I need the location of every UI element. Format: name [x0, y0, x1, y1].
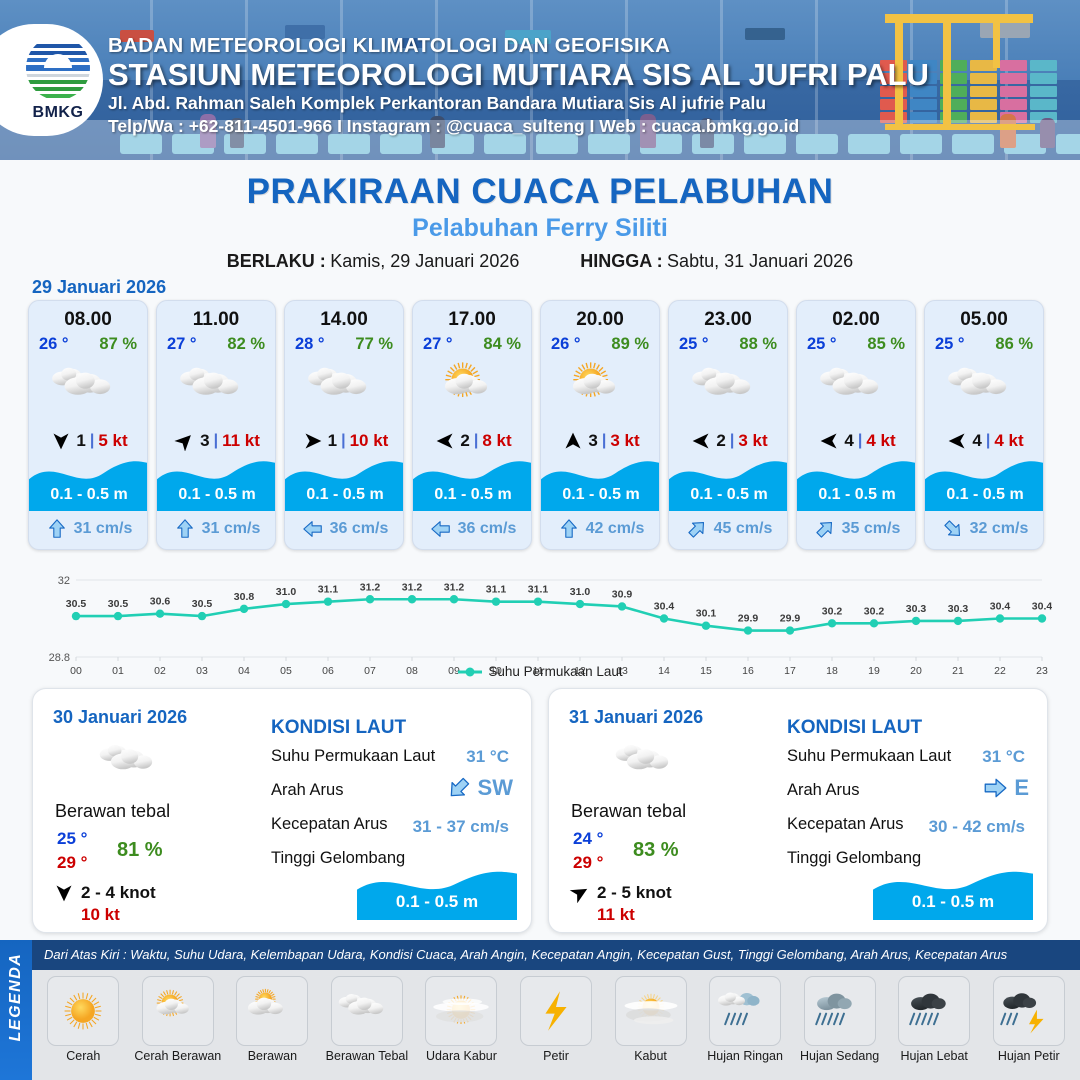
page-subtitle: Pelabuhan Ferry Siliti: [0, 214, 1080, 243]
legend-note-text: Dari Atas Kiri : Waktu, Suhu Udara, Kele…: [44, 947, 1007, 962]
card-wind-separator: |: [602, 432, 606, 450]
chart-point: [786, 626, 794, 634]
card-temperature: 27 °: [167, 335, 197, 354]
card-weather-icon: [29, 359, 148, 421]
legend-side-title: LEGENDA: [7, 945, 25, 1049]
card-wave-height: 0.1 - 0.5 m: [29, 486, 148, 504]
daily-wave-box: 0.1 - 0.5 m: [873, 864, 1033, 920]
daily-wave-height: 0.1 - 0.5 m: [357, 892, 517, 912]
header-contact: Telp/Wa : +62-811-4501-966 I Instagram :…: [108, 116, 799, 137]
chart-point-label: 31.1: [528, 584, 549, 596]
chart-point-label: 31.2: [360, 581, 381, 593]
wind-direction-arrow-icon: [818, 431, 840, 451]
kabut-icon: [618, 982, 684, 1040]
card-wind-speed: 8 kt: [482, 431, 511, 451]
berawan-tebal-icon: [811, 359, 903, 421]
daily-sst-value: 31 °C: [466, 747, 509, 767]
card-wind-speed: 3 kt: [738, 431, 767, 451]
legend-item: Cerah: [38, 976, 129, 1063]
chart-point: [870, 619, 878, 627]
card-humidity: 86 %: [995, 335, 1033, 354]
card-wave-height: 0.1 - 0.5 m: [669, 486, 788, 504]
card-current: 31 cm/s: [29, 513, 148, 545]
card-temperature: 25 °: [935, 335, 965, 354]
card-wind-speed: 3 kt: [610, 431, 639, 451]
legend-item-label: Cerah: [38, 1049, 129, 1063]
legend-item: Petir: [511, 976, 602, 1063]
daily-row-label-sst: Suhu Permukaan Laut: [787, 747, 951, 766]
card-wind-dir-label: 3: [200, 431, 209, 451]
daily-panel-31: 31 Januari 2026Berawan tebal24 °29 °83 %…: [548, 688, 1048, 933]
card-wave-height: 0.1 - 0.5 m: [157, 486, 276, 504]
card-wind-speed: 10 kt: [350, 431, 389, 451]
header-address: Jl. Abd. Rahman Saleh Komplek Perkantora…: [108, 93, 766, 114]
card-current: 32 cm/s: [925, 513, 1044, 545]
card-humidity: 87 %: [99, 335, 137, 354]
card-current: 36 cm/s: [413, 513, 532, 545]
card-current-speed: 36 cm/s: [330, 520, 389, 538]
card-wave-height: 0.1 - 0.5 m: [413, 486, 532, 504]
card-wind-separator: |: [90, 432, 94, 450]
legend-item-label: Petir: [511, 1049, 602, 1063]
berawan-tebal-icon: [601, 737, 697, 793]
current-direction-arrow-icon: [444, 775, 474, 801]
daily-row-label-current-dir: Arah Arus: [787, 781, 859, 800]
card-wind-dir-label: 2: [460, 431, 469, 451]
card-wave-height: 0.1 - 0.5 m: [797, 486, 916, 504]
card-current: 45 cm/s: [669, 513, 788, 545]
card-humidity: 85 %: [867, 335, 905, 354]
cerah-icon: [50, 982, 116, 1040]
chart-point-label: 31.1: [486, 584, 507, 596]
legend-icon-box: [47, 976, 119, 1046]
chart-point: [828, 619, 836, 627]
wind-direction-arrow-icon: [562, 431, 584, 451]
legend-item-label: Udara Kabur: [416, 1049, 507, 1063]
card-wind-speed: 11 kt: [222, 431, 260, 451]
daily-temp-min: 24 °: [573, 829, 603, 849]
card-wind-dir-label: 3: [588, 431, 597, 451]
card-wave: 0.1 - 0.5 m: [925, 453, 1044, 511]
daily-sst-value: 31 °C: [982, 747, 1025, 767]
legend-item: Hujan Ringan: [700, 976, 791, 1063]
chart-point: [366, 595, 374, 603]
daily-weather-icon: [83, 737, 183, 793]
header-agency-name: BADAN METEOROLOGI KLIMATOLOGI DAN GEOFIS…: [108, 34, 670, 58]
card-wave-height: 0.1 - 0.5 m: [541, 486, 660, 504]
legend-item-label: Berawan: [227, 1049, 318, 1063]
berawan-tebal-icon: [171, 359, 263, 421]
cerah-berawan-icon: [427, 359, 519, 421]
card-time: 14.00: [285, 309, 403, 331]
daily-current-arrow: [980, 775, 1010, 801]
card-weather-icon: [157, 359, 276, 421]
legend-item-label: Berawan Tebal: [322, 1049, 413, 1063]
daily-temp-max: 29 °: [57, 853, 87, 873]
chart-point: [702, 622, 710, 630]
card-time: 05.00: [925, 309, 1043, 331]
current-direction-arrow-icon: [814, 518, 836, 540]
legend-item: Hujan Lebat: [889, 976, 980, 1063]
legend-note-bar: Dari Atas Kiri : Waktu, Suhu Udara, Kele…: [32, 940, 1080, 970]
chart-point: [282, 600, 290, 608]
wind-direction-arrow-icon: [53, 883, 75, 903]
legend-icon-box: [898, 976, 970, 1046]
chart-point: [954, 617, 962, 625]
card-humidity: 84 %: [483, 335, 521, 354]
current-direction-arrow-icon: [686, 518, 708, 540]
chart-point-label: 30.2: [864, 605, 885, 617]
chart-point-label: 29.9: [780, 613, 801, 625]
card-wind-dir-label: 4: [972, 431, 981, 451]
cerah-berawan-icon: [555, 359, 647, 421]
current-direction-arrow-icon: [942, 518, 964, 540]
current-direction-arrow-icon: [174, 518, 196, 540]
valid-until-value: Sabtu, 31 Januari 2026: [667, 251, 853, 271]
legend-item-label: Hujan Ringan: [700, 1049, 791, 1063]
chart-point: [534, 597, 542, 605]
card-temperature: 26 °: [39, 335, 69, 354]
card-wind: 3|11 kt: [157, 427, 276, 455]
card-wave-height: 0.1 - 0.5 m: [285, 486, 404, 504]
valid-from-value: Kamis, 29 Januari 2026: [330, 251, 519, 271]
card-time: 20.00: [541, 309, 659, 331]
chart-point-label: 30.4: [1032, 601, 1052, 613]
legend-icon-box: [331, 976, 403, 1046]
wind-direction-arrow-icon: [946, 431, 968, 451]
legend-section: LEGENDA Dari Atas Kiri : Waktu, Suhu Uda…: [0, 940, 1080, 1080]
hourly-card: 17.0027 °84 %2|8 kt0.1 - 0.5 m36 cm/s: [412, 300, 532, 550]
chart-point: [114, 612, 122, 620]
card-current: 31 cm/s: [157, 513, 276, 545]
card-wind: 1|10 kt: [285, 427, 404, 455]
legend-item-label: Hujan Sedang: [794, 1049, 885, 1063]
chart-point: [450, 595, 458, 603]
card-current: 36 cm/s: [285, 513, 404, 545]
chart-legend-label: Suhu Permukaan Laut: [488, 664, 622, 679]
card-current: 42 cm/s: [541, 513, 660, 545]
chart-y-tick-max: 32: [58, 575, 70, 587]
card-wind: 4|4 kt: [925, 427, 1044, 455]
daily-condition: Berawan tebal: [571, 801, 741, 822]
card-wind-speed: 5 kt: [98, 431, 127, 451]
card-weather-icon: [925, 359, 1044, 421]
card-wind-separator: |: [214, 432, 218, 450]
daily-wind-range: 2 - 4 knot: [81, 883, 156, 903]
chart-point: [1038, 614, 1046, 622]
chart-point: [492, 597, 500, 605]
daily-current-direction: SW: [444, 773, 513, 803]
daily-current-dir-label: SW: [478, 775, 513, 801]
daily-wave-box: 0.1 - 0.5 m: [357, 864, 517, 920]
page-title: PRAKIRAAN CUACA PELABUHAN: [0, 172, 1080, 212]
chart-point: [576, 600, 584, 608]
daily-current-arrow: [444, 775, 474, 801]
chart-point-label: 30.3: [948, 603, 969, 615]
daily-wave-height: 0.1 - 0.5 m: [873, 892, 1033, 912]
chart-point-label: 30.5: [192, 598, 213, 610]
daily-wind: 2 - 4 knot: [53, 881, 253, 905]
valid-until-label: HINGGA :: [580, 251, 662, 271]
legend-item: Udara Kabur: [416, 976, 507, 1063]
card-temperature: 26 °: [551, 335, 581, 354]
card-wave: 0.1 - 0.5 m: [157, 453, 276, 511]
legend-icon-box: [709, 976, 781, 1046]
legend-item: Berawan: [227, 976, 318, 1063]
card-time: 02.00: [797, 309, 915, 331]
daily-date: 30 Januari 2026: [53, 707, 187, 728]
berawan-icon: [239, 982, 305, 1040]
card-current-speed: 35 cm/s: [842, 520, 901, 538]
berawan-tebal-icon: [43, 359, 135, 421]
card-weather-icon: [669, 359, 788, 421]
card-wave-height: 0.1 - 0.5 m: [925, 486, 1044, 504]
berawan-tebal-icon: [683, 359, 775, 421]
chart-legend: Suhu Permukaan Laut: [0, 664, 1080, 679]
daily-row-label-current-speed: Kecepatan Arus: [271, 815, 388, 834]
hujan-petir-icon: [996, 982, 1062, 1040]
card-humidity: 89 %: [611, 335, 649, 354]
card-wave: 0.1 - 0.5 m: [541, 453, 660, 511]
chart-point-label: 29.9: [738, 613, 759, 625]
berawan-tebal-icon: [299, 359, 391, 421]
chart-point-label: 31.2: [444, 581, 465, 593]
legend-icon-box: [993, 976, 1065, 1046]
card-temperature: 25 °: [807, 335, 837, 354]
legend-item-label: Kabut: [605, 1049, 696, 1063]
daily-sea-title: KONDISI LAUT: [271, 717, 406, 739]
header-station-name: STASIUN METEOROLOGI MUTIARA SIS AL JUFRI…: [108, 57, 929, 93]
daily-temp-max: 29 °: [573, 853, 603, 873]
legend-item: Hujan Petir: [983, 976, 1074, 1063]
berawan-tebal-icon: [939, 359, 1031, 421]
chart-point: [408, 595, 416, 603]
card-wind-speed: 4 kt: [994, 431, 1023, 451]
card-current-speed: 32 cm/s: [970, 520, 1029, 538]
hourly-card: 08.0026 °87 %1|5 kt0.1 - 0.5 m31 cm/s: [28, 300, 148, 550]
card-wave: 0.1 - 0.5 m: [413, 453, 532, 511]
card-humidity: 82 %: [227, 335, 265, 354]
daily-wind: 2 - 5 knot: [569, 881, 769, 905]
daily-sea-title: KONDISI LAUT: [787, 717, 922, 739]
bmkg-logo-text: BMKG: [22, 104, 94, 122]
hujan-sedang-icon: [807, 982, 873, 1040]
bmkg-logo: BMKG: [0, 24, 103, 136]
daily-row-label-sst: Suhu Permukaan Laut: [271, 747, 435, 766]
chart-point: [744, 626, 752, 634]
chart-y-tick-min: 28.8: [49, 652, 70, 664]
chart-point-label: 30.5: [66, 598, 87, 610]
chart-point-label: 30.6: [150, 596, 171, 608]
hourly-card: 02.0025 °85 %4|4 kt0.1 - 0.5 m35 cm/s: [796, 300, 916, 550]
legend-icon-box: [425, 976, 497, 1046]
card-current-speed: 31 cm/s: [202, 520, 261, 538]
card-wind: 1|5 kt: [29, 427, 148, 455]
card-time: 11.00: [157, 309, 275, 331]
chart-point: [240, 605, 248, 613]
chart-point: [198, 612, 206, 620]
cerah-berawan-icon: [145, 982, 211, 1040]
card-current-speed: 45 cm/s: [714, 520, 773, 538]
chart-point: [72, 612, 80, 620]
daily-current-dir-label: E: [1014, 775, 1029, 801]
legend-side-banner: LEGENDA: [0, 940, 32, 1080]
card-temperature: 28 °: [295, 335, 325, 354]
hourly-card: 20.0026 °89 %3|3 kt0.1 - 0.5 m42 cm/s: [540, 300, 660, 550]
chart-point-label: 30.9: [612, 588, 633, 600]
chart-point: [912, 617, 920, 625]
chart-point: [660, 614, 668, 622]
card-wind-separator: |: [730, 432, 734, 450]
card-time: 23.00: [669, 309, 787, 331]
card-wave: 0.1 - 0.5 m: [797, 453, 916, 511]
card-weather-icon: [413, 359, 532, 421]
chart-point: [156, 609, 164, 617]
card-wind-speed: 4 kt: [866, 431, 895, 451]
udara-kabur-icon: [428, 982, 494, 1040]
validity-period: BERLAKU : Kamis, 29 Januari 2026 HINGGA …: [0, 251, 1080, 272]
chart-point-label: 30.8: [234, 591, 255, 603]
hourly-forecast-row: 08.0026 °87 %1|5 kt0.1 - 0.5 m31 cm/s11.…: [28, 300, 1052, 550]
daily-current-speed: 31 - 37 cm/s: [413, 817, 509, 837]
chart-point-label: 30.3: [906, 603, 927, 615]
daily-row-label-current-speed: Kecepatan Arus: [787, 815, 904, 834]
card-temperature: 25 °: [679, 335, 709, 354]
daily-condition: Berawan tebal: [55, 801, 225, 822]
hujan-ringan-icon: [712, 982, 778, 1040]
legend-items-row: CerahCerah BerawanBerawanBerawan TebalUd…: [32, 970, 1080, 1080]
daily-date: 31 Januari 2026: [569, 707, 703, 728]
card-wave: 0.1 - 0.5 m: [29, 453, 148, 511]
hourly-day-label: 29 Januari 2026: [32, 277, 166, 298]
chart-point-label: 30.5: [108, 598, 129, 610]
hourly-card: 05.0025 °86 %4|4 kt0.1 - 0.5 m32 cm/s: [924, 300, 1044, 550]
daily-wind-range: 2 - 5 knot: [597, 883, 672, 903]
berawan-tebal-icon: [85, 737, 181, 793]
legend-line-swatch-icon: [457, 666, 483, 678]
legend-item-label: Hujan Lebat: [889, 1049, 980, 1063]
wind-direction-arrow-icon: [302, 431, 324, 451]
daily-gust: 10 kt: [81, 905, 120, 925]
chart-point-label: 31.0: [276, 586, 297, 598]
daily-row-label-current-dir: Arah Arus: [271, 781, 343, 800]
bmkg-emblem-icon: [26, 36, 90, 100]
chart-point-label: 31.2: [402, 581, 423, 593]
daily-weather-icon: [599, 737, 699, 793]
card-temperature: 27 °: [423, 335, 453, 354]
wind-direction-arrow-icon: [50, 431, 72, 451]
card-time: 08.00: [29, 309, 147, 331]
valid-from-label: BERLAKU :: [227, 251, 326, 271]
wind-direction-arrow-icon: [434, 431, 456, 451]
card-wind-dir-label: 1: [76, 431, 85, 451]
page-header: BMKG BADAN METEOROLOGI KLIMATOLOGI DAN G…: [0, 0, 1080, 160]
card-wind-dir-label: 2: [716, 431, 725, 451]
daily-current-direction: E: [980, 773, 1029, 803]
card-wind: 2|3 kt: [669, 427, 788, 455]
legend-item: Cerah Berawan: [133, 976, 224, 1063]
card-wind: 4|4 kt: [797, 427, 916, 455]
legend-icon-box: [615, 976, 687, 1046]
card-weather-icon: [541, 359, 660, 421]
legend-icon-box: [520, 976, 592, 1046]
legend-item: Kabut: [605, 976, 696, 1063]
card-current-speed: 42 cm/s: [586, 520, 645, 538]
daily-humidity: 81 %: [117, 839, 163, 862]
legend-icon-box: [236, 976, 308, 1046]
card-wave: 0.1 - 0.5 m: [285, 453, 404, 511]
card-wind-separator: |: [858, 432, 862, 450]
card-weather-icon: [285, 359, 404, 421]
card-weather-icon: [797, 359, 916, 421]
legend-item-label: Cerah Berawan: [133, 1049, 224, 1063]
hujan-lebat-icon: [901, 982, 967, 1040]
chart-point-label: 30.2: [822, 605, 843, 617]
card-time: 17.00: [413, 309, 531, 331]
daily-current-speed: 30 - 42 cm/s: [929, 817, 1025, 837]
current-direction-arrow-icon: [430, 518, 452, 540]
wind-direction-arrow-icon: [690, 431, 712, 451]
legend-item: Hujan Sedang: [794, 976, 885, 1063]
daily-temp-min: 25 °: [57, 829, 87, 849]
card-current-speed: 36 cm/s: [458, 520, 517, 538]
card-humidity: 77 %: [355, 335, 393, 354]
chart-point-label: 30.1: [696, 608, 717, 620]
chart-point: [324, 597, 332, 605]
chart-point-label: 30.4: [654, 601, 675, 613]
card-wave: 0.1 - 0.5 m: [669, 453, 788, 511]
card-wind-dir-label: 4: [844, 431, 853, 451]
card-wind: 3|3 kt: [541, 427, 660, 455]
hourly-card: 14.0028 °77 %1|10 kt0.1 - 0.5 m36 cm/s: [284, 300, 404, 550]
card-wind-separator: |: [474, 432, 478, 450]
daily-panel-30: 30 Januari 2026Berawan tebal25 °29 °81 %…: [32, 688, 532, 933]
legend-item-label: Hujan Petir: [983, 1049, 1074, 1063]
chart-point-label: 31.0: [570, 586, 591, 598]
hourly-card: 23.0025 °88 %2|3 kt0.1 - 0.5 m45 cm/s: [668, 300, 788, 550]
current-direction-arrow-icon: [980, 775, 1010, 801]
current-direction-arrow-icon: [46, 518, 68, 540]
card-wind: 2|8 kt: [413, 427, 532, 455]
current-direction-arrow-icon: [302, 518, 324, 540]
card-wind-dir-label: 1: [328, 431, 337, 451]
card-wind-separator: |: [986, 432, 990, 450]
chart-point-label: 30.4: [990, 601, 1011, 613]
daily-gust: 11 kt: [597, 905, 635, 925]
berawan-tebal-icon: [334, 982, 400, 1040]
card-current: 35 cm/s: [797, 513, 916, 545]
hourly-card: 11.0027 °82 %3|11 kt0.1 - 0.5 m31 cm/s: [156, 300, 276, 550]
card-current-speed: 31 cm/s: [74, 520, 133, 538]
petir-icon: [523, 982, 589, 1040]
card-humidity: 88 %: [739, 335, 777, 354]
wind-direction-arrow-icon: [174, 431, 196, 451]
wind-direction-arrow-icon: [569, 883, 591, 903]
legend-icon-box: [142, 976, 214, 1046]
chart-point-label: 31.1: [318, 584, 339, 596]
chart-point: [618, 602, 626, 610]
chart-point: [996, 614, 1004, 622]
legend-item: Berawan Tebal: [322, 976, 413, 1063]
daily-humidity: 83 %: [633, 839, 679, 862]
current-direction-arrow-icon: [558, 518, 580, 540]
card-wind-separator: |: [341, 432, 345, 450]
legend-icon-box: [804, 976, 876, 1046]
